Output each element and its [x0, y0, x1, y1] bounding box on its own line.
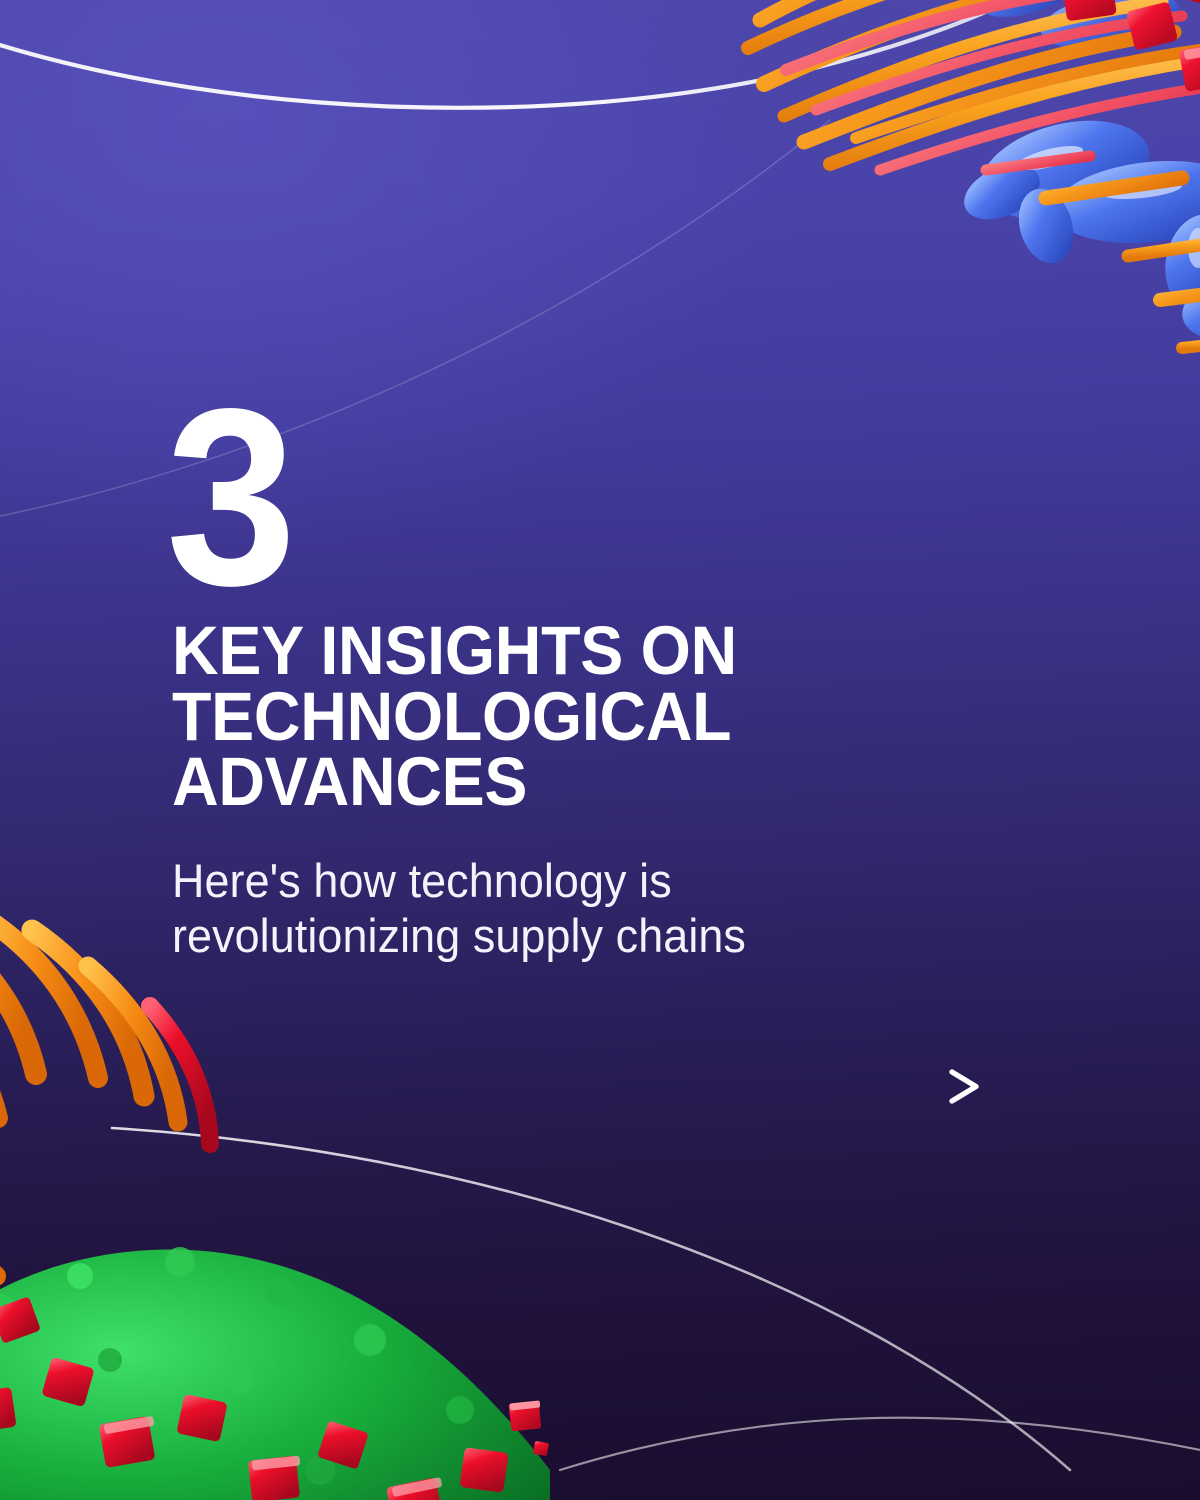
social-card: 3 KEY INSIGHTS ON TECHNOLOGICAL ADVANCES… — [0, 0, 1200, 1500]
swipe-next-button[interactable]: Swipe for more — [608, 1068, 984, 1104]
green-granules-tr — [1152, 0, 1200, 58]
curve-top — [0, 0, 1040, 108]
orange-tubes-tr — [748, 0, 1200, 348]
subtitle: Here's how technology is revolutionizing… — [172, 854, 993, 964]
card-content: 3 KEY INSIGHTS ON TECHNOLOGICAL ADVANCES… — [172, 392, 1032, 964]
red-cubes-tr — [954, 0, 1200, 192]
blue-blobs-tr — [956, 0, 1200, 346]
page-title: KEY INSIGHTS ON TECHNOLOGICAL ADVANCES — [172, 618, 976, 816]
decoration-top-right — [730, 0, 1200, 430]
floating-red-cubes — [500, 1398, 620, 1488]
insight-count: 3 — [166, 392, 971, 604]
arrow-right-icon[interactable] — [608, 1068, 984, 1104]
green-mound-bl — [0, 1247, 550, 1500]
decoration-bottom-left — [0, 910, 550, 1500]
decoration-left-edge — [0, 770, 200, 1290]
curve-lower-small — [560, 1418, 1200, 1470]
curve-lower-large — [112, 1128, 1070, 1470]
red-cubes-bl — [0, 1265, 543, 1500]
